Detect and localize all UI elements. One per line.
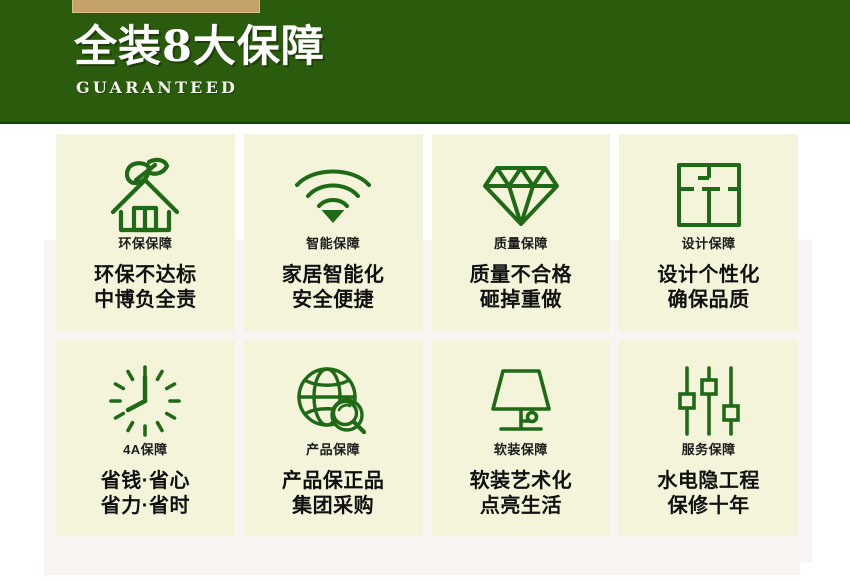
card-label: 设计保障: [682, 236, 736, 252]
card-line-1: 设计个性化: [657, 263, 760, 288]
header-banner: 全装8大保障 GUARANTEED: [0, 0, 850, 124]
card-line-1: 质量不合格: [470, 263, 573, 288]
card-label: 服务保障: [682, 442, 736, 458]
guarantee-card[interactable]: 设计保障 设计个性化 确保品质: [619, 134, 798, 331]
card-label: 软装保障: [494, 442, 548, 458]
card-text: 环保不达标 中博负全责: [94, 263, 197, 313]
guarantee-card[interactable]: 服务保障 水电隐工程 保修十年: [619, 340, 798, 537]
card-line-2: 保修十年: [657, 494, 760, 519]
guarantee-card[interactable]: 软装保障 软装艺术化 点亮生活: [432, 340, 611, 537]
page-root: 全装8大保障 GUARANTEED 环保保障 环保不达标 中博负全责: [0, 0, 850, 580]
gold-accent-bar: [72, 0, 260, 13]
page-title: 全装8大保障: [74, 24, 325, 70]
globe-search-icon: [244, 358, 423, 444]
bottom-band: [44, 545, 800, 575]
sliders-icon: [619, 358, 798, 444]
card-line-2: 中博负全责: [94, 288, 197, 313]
card-label: 4A保障: [123, 442, 168, 458]
guarantee-card[interactable]: 质量保障 质量不合格 砸掉重做: [432, 134, 611, 331]
guarantee-card[interactable]: 环保保障 环保不达标 中博负全责: [56, 134, 235, 331]
card-text: 设计个性化 确保品质: [657, 263, 760, 313]
card-text: 质量不合格 砸掉重做: [470, 263, 573, 313]
floor-plan-icon: [619, 152, 798, 238]
card-line-1: 家居智能化: [282, 263, 385, 288]
card-line-2: 安全便捷: [282, 288, 385, 313]
card-text: 产品保正品 集团采购: [282, 469, 385, 519]
card-line-2: 集团采购: [282, 494, 385, 519]
right-edge-strip: [800, 240, 812, 562]
card-line-2: 点亮生活: [470, 494, 573, 519]
card-line-2: 砸掉重做: [470, 288, 573, 313]
guarantee-card-grid: 环保保障 环保不达标 中博负全责 智能保障 家居智能化 安全便捷: [56, 134, 798, 536]
card-line-1: 软装艺术化: [470, 469, 573, 494]
card-line-2: 省力·省时: [101, 494, 190, 519]
page-subtitle: GUARANTEED: [76, 78, 238, 97]
wifi-icon: [244, 152, 423, 238]
guarantee-card[interactable]: 产品保障 产品保正品 集团采购: [244, 340, 423, 537]
card-label: 智能保障: [306, 236, 360, 252]
diamond-icon: [432, 152, 611, 238]
card-line-2: 确保品质: [657, 288, 760, 313]
card-label: 产品保障: [306, 442, 360, 458]
guarantee-card[interactable]: 智能保障 家居智能化 安全便捷: [244, 134, 423, 331]
card-text: 软装艺术化 点亮生活: [470, 469, 573, 519]
card-label: 质量保障: [494, 236, 548, 252]
eco-house-icon: [56, 152, 235, 238]
card-text: 水电隐工程 保修十年: [657, 469, 760, 519]
card-text: 家居智能化 安全便捷: [282, 263, 385, 313]
card-label: 环保保障: [118, 236, 172, 252]
card-line-1: 环保不达标: [94, 263, 197, 288]
clock-icon: [56, 358, 235, 444]
card-text: 省钱·省心 省力·省时: [101, 469, 190, 519]
guarantee-card[interactable]: 4A保障 省钱·省心 省力·省时: [56, 340, 235, 537]
table-lamp-icon: [432, 358, 611, 444]
card-line-1: 省钱·省心: [101, 469, 190, 494]
card-line-1: 产品保正品: [282, 469, 385, 494]
card-line-1: 水电隐工程: [657, 469, 760, 494]
